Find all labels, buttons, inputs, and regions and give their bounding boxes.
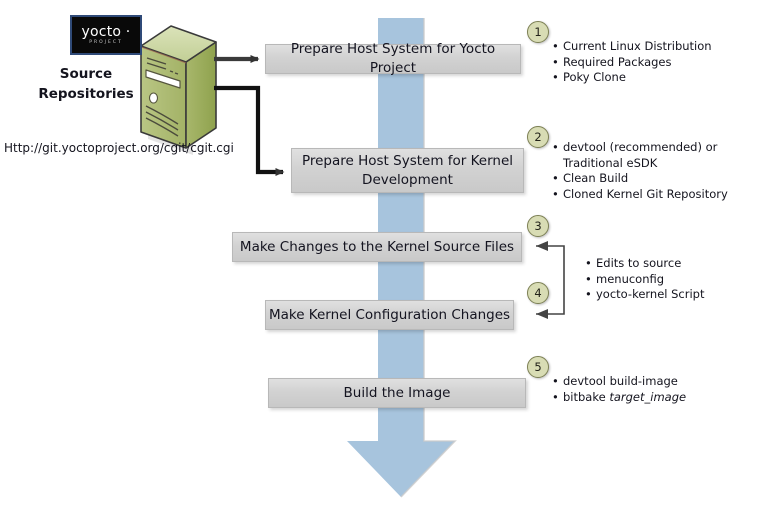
repository-url: Http://git.yoctoproject.org/cgit/cgit.cg…	[4, 141, 234, 155]
list-item: bitbake target_image	[552, 390, 767, 406]
logo-wordmark: yocto ·	[82, 25, 131, 39]
list-item: devtool (recommended) or Traditional eSD…	[552, 140, 767, 171]
step-2-bullet-list: devtool (recommended) or Traditional eSD…	[552, 140, 767, 202]
step-1-bullet-list: Current Linux Distribution Required Pack…	[552, 39, 767, 86]
process-box-step-2[interactable]: Prepare Host System for Kernel Developme…	[291, 148, 524, 193]
process-box-step-5[interactable]: Build the Image	[268, 378, 526, 408]
process-box-step-3[interactable]: Make Changes to the Kernel Source Files	[232, 232, 522, 262]
step-number-5: 5	[527, 356, 549, 378]
logo-subtitle: PROJECT	[89, 41, 122, 46]
bitbake-target-image-arg: target_image	[609, 390, 686, 404]
step-number-4: 4	[527, 282, 549, 304]
step-number-3: 3	[527, 215, 549, 237]
list-item: Required Packages	[552, 55, 767, 71]
source-repositories-line1: Source	[26, 64, 146, 84]
list-item: Edits to source	[585, 256, 765, 272]
process-box-step-4[interactable]: Make Kernel Configuration Changes	[265, 300, 514, 330]
connector-server-to-step2	[214, 88, 283, 172]
source-repositories-label: Source Repositories	[26, 64, 146, 104]
steps-3-4-bullet-list: Edits to source menuconfig yocto-kernel …	[585, 256, 765, 303]
step-number-1: 1	[527, 21, 549, 43]
list-item: devtool build-image	[552, 374, 767, 390]
yocto-project-logo: yocto · PROJECT	[70, 15, 142, 55]
list-item: Current Linux Distribution	[552, 39, 767, 55]
server-icon	[141, 26, 216, 155]
step-number-2: 2	[527, 126, 549, 148]
list-item: yocto-kernel Script	[585, 287, 765, 303]
connector-bracket-steps-3-4	[536, 241, 564, 319]
bitbake-command-prefix: bitbake	[563, 390, 609, 404]
process-box-step-1[interactable]: Prepare Host System for Yocto Project	[265, 44, 521, 74]
list-item: menuconfig	[585, 272, 765, 288]
source-repositories-line2: Repositories	[26, 84, 146, 104]
list-item: Poky Clone	[552, 70, 767, 86]
list-item: Clean Build	[552, 171, 767, 187]
step-5-bullet-list: devtool build-image bitbake target_image	[552, 374, 767, 405]
list-item: Cloned Kernel Git Repository	[552, 187, 767, 203]
